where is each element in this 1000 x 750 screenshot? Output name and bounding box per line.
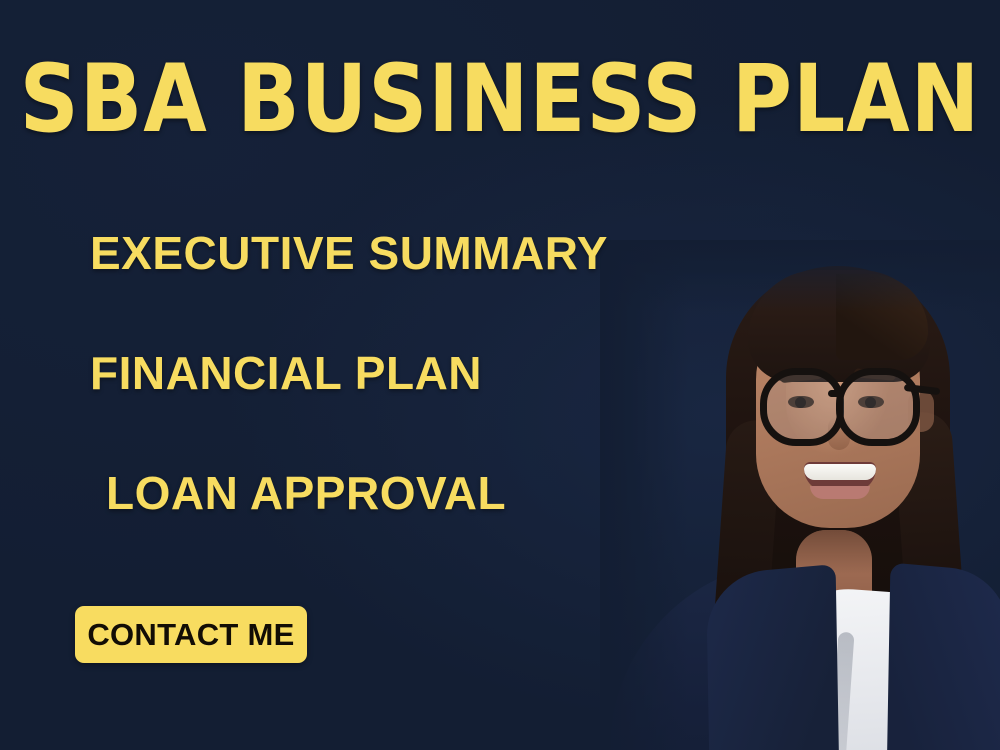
page-title: SBA BUSINESS PLAN — [15, 50, 985, 150]
glasses-lens-right — [836, 368, 920, 446]
portrait-blazer-lapel-left — [706, 564, 840, 750]
contact-me-button[interactable]: CONTACT ME — [75, 606, 307, 663]
service-item-loan-approval: LOAN APPROVAL — [0, 468, 620, 518]
service-item-financial-plan: FINANCIAL PLAN — [0, 348, 620, 398]
thumbnail-canvas: SBA BUSINESS PLAN EXECUTIVE SUMMARY FINA… — [0, 0, 1000, 750]
service-list: EXECUTIVE SUMMARY FINANCIAL PLAN LOAN AP… — [0, 228, 620, 588]
portrait-teeth — [804, 464, 876, 480]
service-item-executive-summary: EXECUTIVE SUMMARY — [0, 228, 620, 278]
portrait-photo — [600, 240, 1000, 750]
portrait-blazer-lapel-right — [886, 562, 1000, 750]
glasses-lens-left — [760, 368, 844, 446]
portrait-hair-part — [836, 274, 928, 360]
glasses-bridge — [828, 390, 844, 397]
portrait-lower-lip — [810, 486, 870, 499]
